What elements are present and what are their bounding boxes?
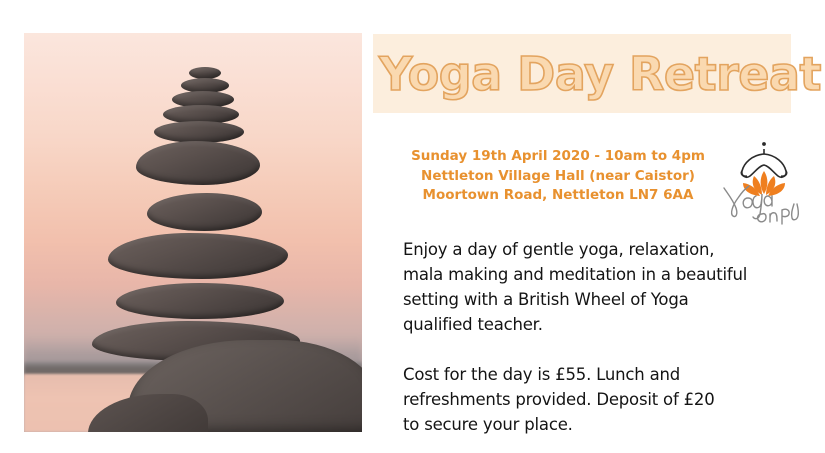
para1-line2: mala making and meditation in a beautifu…: [403, 265, 747, 284]
cairn-photo: [24, 33, 362, 432]
paragraph-spacer: [403, 337, 803, 362]
stone-9: [116, 283, 284, 319]
stone-6: [136, 141, 260, 185]
para2-line2: refreshments provided. Deposit of £20: [403, 390, 715, 409]
paragraph-two: Cost for the day is £55. Lunch and refre…: [403, 362, 803, 437]
para2-line1: Cost for the day is £55. Lunch and: [403, 365, 680, 384]
yoga-on-up-logo: [718, 138, 810, 228]
event-address: Moortown Road, Nettleton LN7 6AA: [398, 186, 718, 206]
event-venue: Nettleton Village Hall (near Caistor): [398, 167, 718, 187]
stone-5: [154, 121, 244, 143]
lotus-icon: [743, 171, 785, 196]
para2-line3: to secure your place.: [403, 415, 573, 434]
para1-line4: qualified teacher.: [403, 315, 543, 334]
para1-line1: Enjoy a day of gentle yoga, relaxation,: [403, 240, 714, 259]
para1-line3: setting with a British Wheel of Yoga: [403, 290, 689, 309]
description-text: Enjoy a day of gentle yoga, relaxation, …: [403, 237, 803, 437]
poster-canvas: Yoga Day Retreat Sunday 19th April 2020 …: [0, 0, 825, 453]
event-date-time: Sunday 19th April 2020 - 10am to 4pm: [398, 147, 718, 167]
stone-8: [108, 233, 288, 279]
stone-7: [147, 193, 262, 231]
page-title: Yoga Day Retreat: [379, 38, 791, 110]
paragraph-one: Enjoy a day of gentle yoga, relaxation, …: [403, 237, 803, 337]
event-details: Sunday 19th April 2020 - 10am to 4pm Net…: [398, 147, 718, 206]
